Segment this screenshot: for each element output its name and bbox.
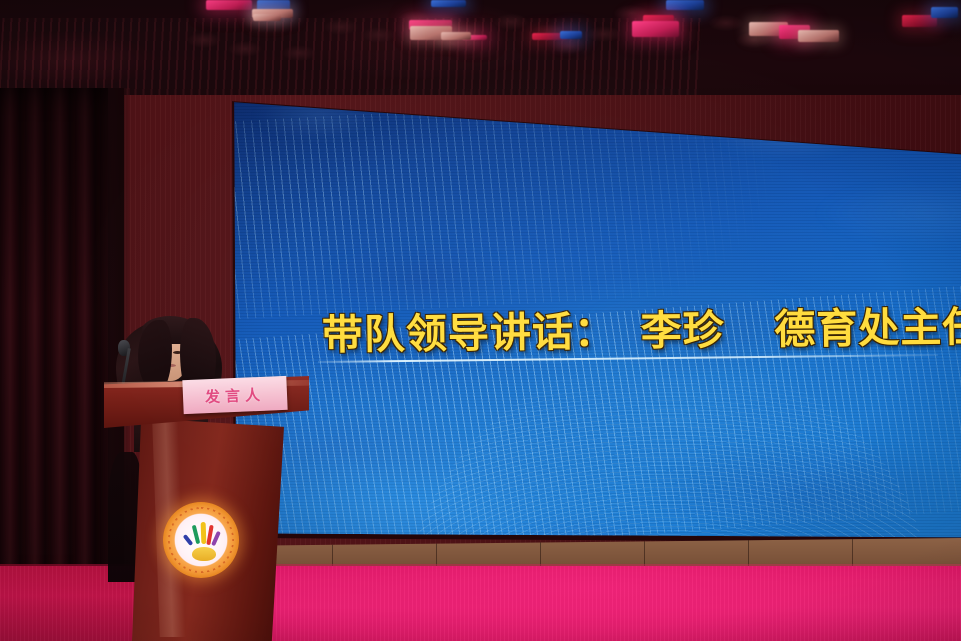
light-warm-5 <box>798 30 839 42</box>
emblem-finger-2 <box>192 525 200 544</box>
ceiling-spot-8 <box>228 41 262 57</box>
ceiling-spot-9 <box>282 45 316 61</box>
emblem-inner-disc <box>175 514 227 566</box>
ceiling-spot-0 <box>324 19 358 35</box>
ceiling-spot-5 <box>587 26 621 42</box>
light-blue-2 <box>666 0 703 10</box>
slide-title-text: 带队领导讲话： 李珍 德育处主任 <box>322 305 933 359</box>
light-warm-6 <box>441 32 471 40</box>
light-blue-3 <box>431 0 466 7</box>
light-pink-1 <box>206 0 252 10</box>
light-pink-3 <box>632 21 679 37</box>
podium-nameplate-text: 发言人 <box>205 383 266 406</box>
emblem-finger-5 <box>211 531 221 546</box>
podium-nameplate: 发言人 <box>182 376 287 414</box>
emblem-finger-3 <box>201 522 206 544</box>
podium-school-emblem <box>163 502 239 578</box>
light-blue-5 <box>560 31 581 39</box>
light-warm-2 <box>253 14 280 20</box>
emblem-finger-1 <box>183 534 194 546</box>
ceiling-spot-3 <box>494 14 528 30</box>
emblem-palm <box>192 547 216 561</box>
auditorium-stage-photo: 带队领导讲话： 李珍 德育处主任 发言人 <box>0 0 961 641</box>
light-blue-4 <box>931 7 958 17</box>
ceiling-spot-12 <box>709 15 743 31</box>
